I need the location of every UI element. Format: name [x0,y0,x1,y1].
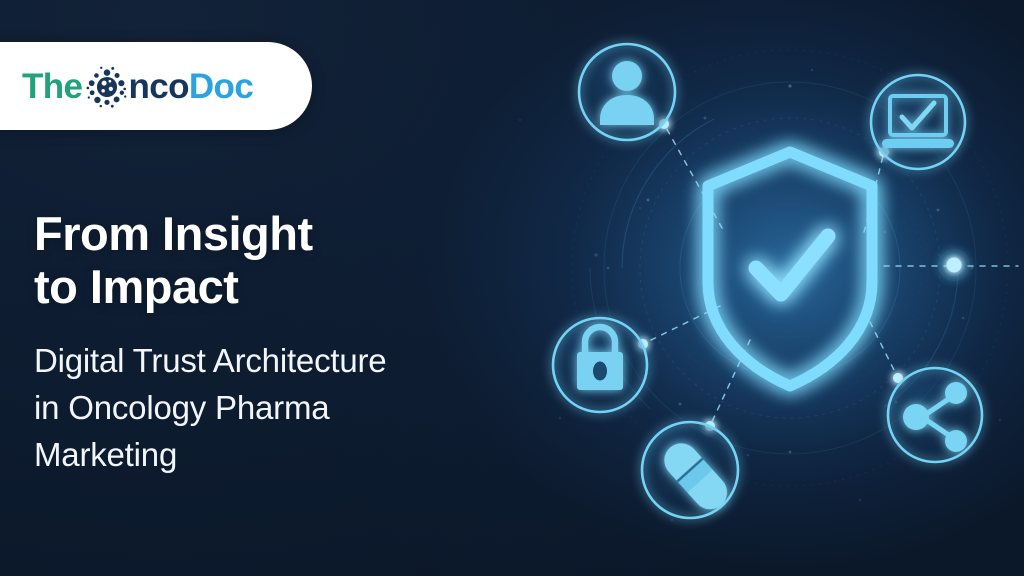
hero-headline: From Insight to Impact [34,208,313,313]
trust-network-svg [498,0,1024,576]
molecule-cluster-icon [84,64,130,110]
logo-text-nco: nco [128,69,188,104]
headline-line-1: From Insight [34,208,313,261]
brand-logo[interactable]: The [0,42,312,130]
logo-text-doc: Doc [189,69,253,104]
logo-lockup: The [22,63,253,109]
headline-line-2: to Impact [34,261,313,314]
trust-network-graphic [498,0,1024,576]
node-audience[interactable] [579,44,675,140]
satellite-node [938,249,970,281]
node-platform[interactable] [871,75,965,169]
hero-subheadline: Digital Trust Architecture in Oncology P… [34,338,386,479]
node-therapy[interactable] [642,422,738,518]
subhead-line-1: Digital Trust Architecture [34,338,386,385]
logo-text-the: The [22,69,82,104]
node-sharing[interactable] [888,368,982,462]
node-security[interactable] [553,318,647,412]
promo-banner: The [0,0,1024,576]
subhead-line-2: in Oncology Pharma [34,385,386,432]
subhead-line-3: Marketing [34,432,386,479]
